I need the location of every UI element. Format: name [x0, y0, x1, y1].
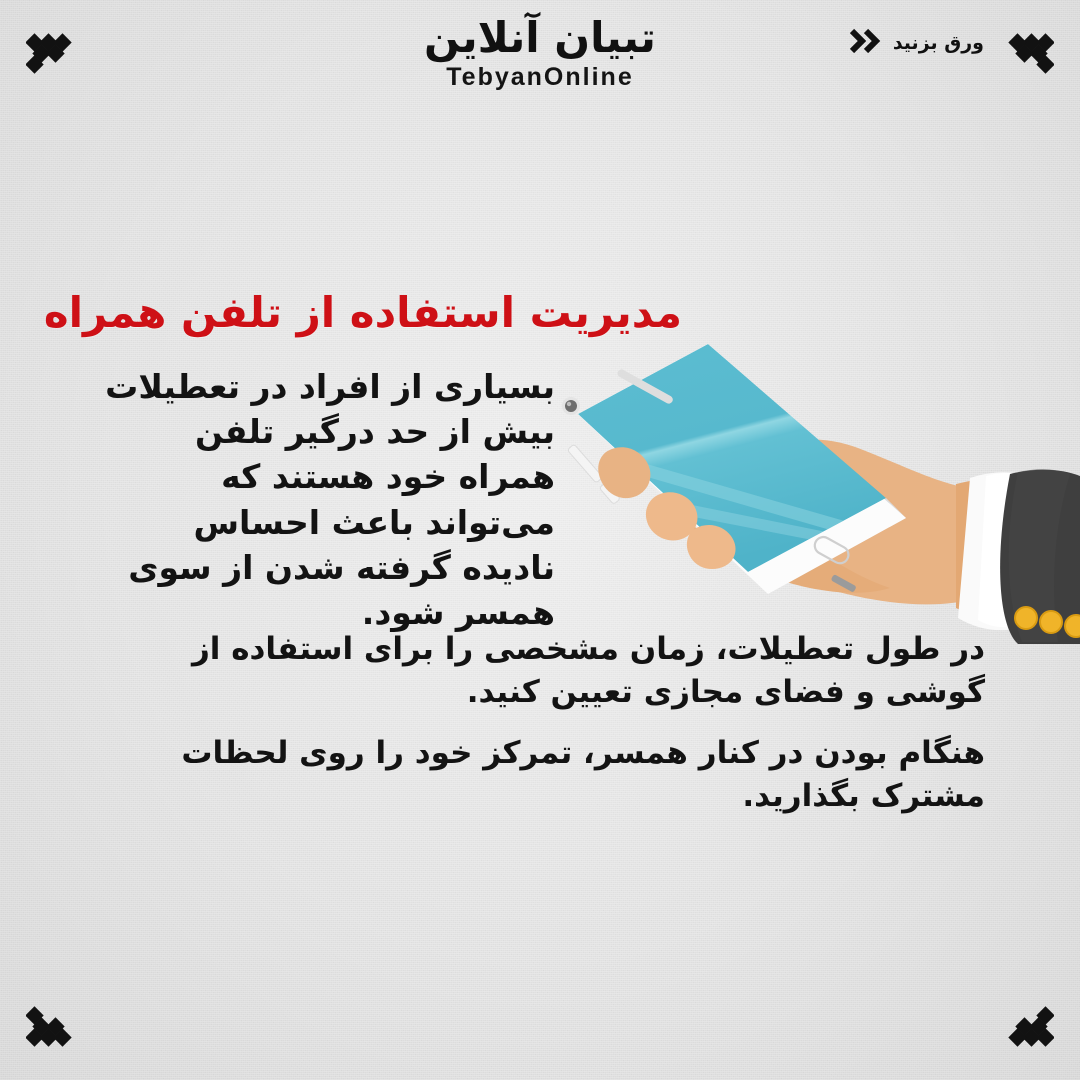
paragraph-1: بسیاری از افراد در تعطیلات بیش از حد درگ…	[100, 364, 555, 635]
ornament-top-right	[1000, 22, 1054, 80]
page-title: مدیریت استفاده از تلفن همراه	[44, 288, 682, 337]
brand-name-fa: تبیان آنلاین	[330, 14, 750, 61]
swipe-hint-label: ورق بزنید	[893, 32, 984, 54]
hand-holding-smartphone-illustration	[548, 326, 1080, 666]
paragraph-2: در طول تعطیلات، زمان مشخصی را برای استفا…	[95, 628, 985, 715]
ornament-bottom-left	[26, 1000, 80, 1058]
double-chevron-right-icon	[850, 28, 884, 58]
infographic-canvas: تبیان آنلاین TebyanOnline ورق بزنید	[0, 0, 1080, 1080]
brand-logo: تبیان آنلاین TebyanOnline	[330, 14, 750, 92]
ornament-bottom-right	[1000, 1000, 1054, 1058]
paragraph-3: هنگام بودن در کنار همسر، تمرکز خود را رو…	[95, 732, 985, 819]
swipe-hint[interactable]: ورق بزنید	[850, 28, 984, 58]
ornament-top-left	[26, 22, 80, 80]
brand-name-en: TebyanOnline	[330, 63, 750, 92]
